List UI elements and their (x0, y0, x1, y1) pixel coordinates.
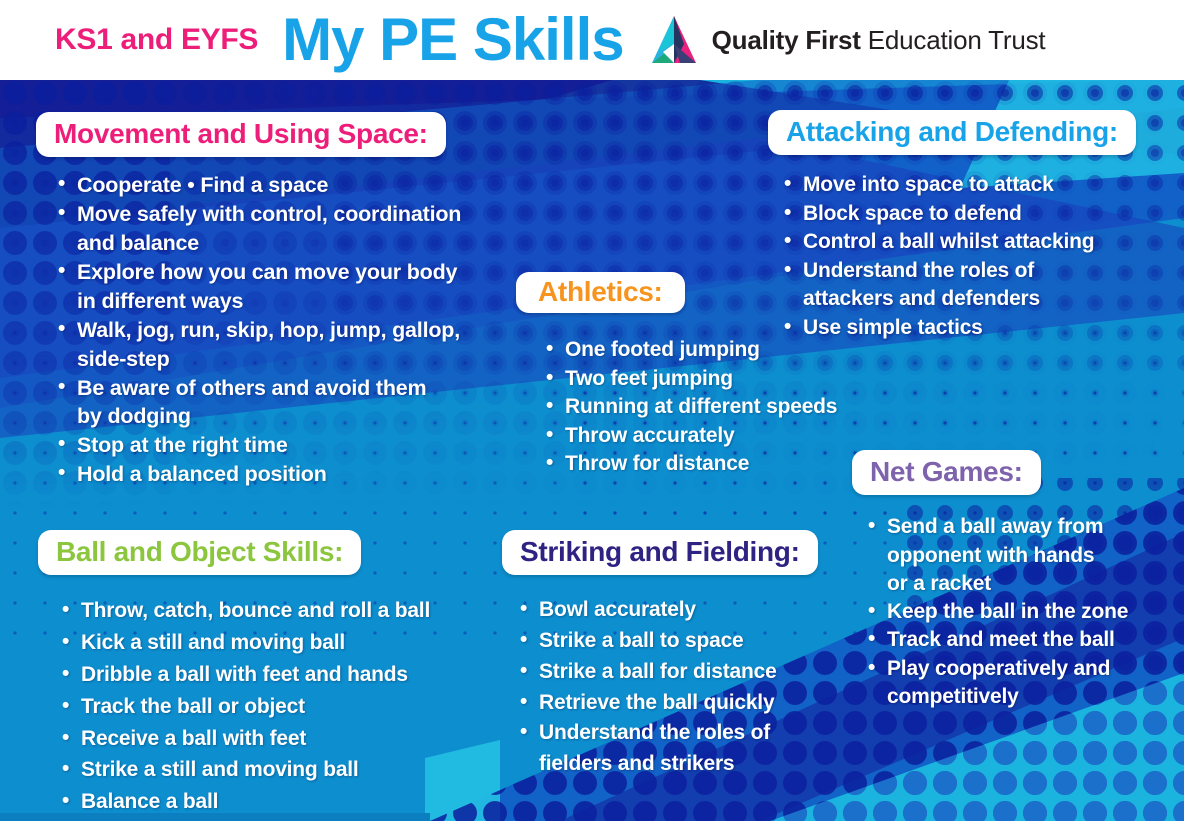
list-item-continuation: and balance (58, 230, 506, 257)
panel-heading: Athletics: (538, 276, 663, 307)
list-item: Two feet jumping (546, 366, 876, 392)
list-item: Control a ball whilst attacking (784, 229, 1168, 255)
list-item: Track and meet the ball (868, 627, 1172, 653)
list-item-continuation: competitively (868, 684, 1172, 710)
list-item: Dribble a ball with feet and hands (62, 660, 508, 690)
logo-wordmark: Quality First Education Trust (712, 25, 1046, 56)
logo-regular-text: Education Trust (861, 25, 1046, 55)
panel-ball-and-object-skills: Ball and Object Skills: Throw, catch, bo… (38, 530, 508, 819)
panel-heading: Net Games: (870, 456, 1023, 487)
panel-heading: Ball and Object Skills: (56, 536, 343, 567)
list-item: Receive a ball with feet (62, 724, 508, 754)
page-title: My PE Skills (282, 10, 624, 70)
list-item: Be aware of others and avoid them (58, 375, 506, 402)
panel-striking-and-fielding: Striking and Fielding: Bowl accurately S… (502, 530, 842, 781)
list-item: Move into space to attack (784, 172, 1168, 198)
list-item: Keep the ball in the zone (868, 599, 1172, 625)
key-stage-label: KS1 and EYFS (55, 23, 258, 57)
list-item: Stop at the right time (58, 432, 506, 459)
list-item: Balance a ball (62, 787, 508, 817)
list-item: Strike a ball to space (520, 627, 842, 656)
organisation-logo: Quality First Education Trust (646, 14, 1046, 66)
list-item: Send a ball away from (868, 514, 1172, 540)
list-item-continuation: or a racket (868, 571, 1172, 597)
list-item: Understand the roles of (520, 719, 842, 748)
skill-list-striking-and-fielding: Bowl accurately Strike a ball to space S… (520, 596, 842, 779)
list-item: Hold a balanced position (58, 461, 506, 488)
panel-heading: Striking and Fielding: (520, 536, 800, 567)
panel-movement-and-using-space: Movement and Using Space: Cooperate • Fi… (36, 112, 506, 490)
quality-first-triangle-logo-icon (646, 14, 702, 66)
list-item: Kick a still and moving ball (62, 628, 508, 658)
list-item-continuation: side-step (58, 346, 506, 373)
list-item: Strike a ball for distance (520, 658, 842, 687)
list-item: Track the ball or object (62, 692, 508, 722)
list-item: Walk, jog, run, skip, hop, jump, gallop, (58, 317, 506, 344)
heading-pill-movement: Movement and Using Space: (36, 112, 446, 157)
skill-list-athletics: One footed jumping Two feet jumping Runn… (546, 337, 876, 477)
heading-pill-net-games: Net Games: (852, 450, 1041, 495)
list-item: One footed jumping (546, 337, 876, 363)
list-item: Running at different speeds (546, 394, 876, 420)
list-item: Throw, catch, bounce and roll a ball (62, 596, 508, 626)
list-item: Explore how you can move your body (58, 259, 506, 286)
list-item-continuation: in different ways (58, 288, 506, 315)
panel-athletics: Athletics: One footed jumping Two feet j… (516, 272, 876, 480)
list-item: Cooperate • Find a space (58, 172, 506, 199)
heading-pill-athletics: Athletics: (516, 272, 685, 313)
heading-pill-ball-and-object: Ball and Object Skills: (38, 530, 361, 575)
panel-heading: Movement and Using Space: (54, 118, 428, 149)
skill-list-net-games: Send a ball away from opponent with hand… (868, 514, 1172, 710)
list-item: Block space to defend (784, 201, 1168, 227)
list-item: Play cooperatively and (868, 656, 1172, 682)
list-item-continuation: opponent with hands (868, 543, 1172, 569)
heading-pill-attacking: Attacking and Defending: (768, 110, 1136, 155)
list-item: Throw for distance (546, 451, 876, 477)
list-item: Strike a still and moving ball (62, 755, 508, 785)
logo-bold-text: Quality First (712, 25, 861, 55)
list-item: Throw accurately (546, 423, 876, 449)
list-item: Retrieve the ball quickly (520, 689, 842, 718)
pe-skills-poster: KS1 and EYFS My PE Skills Quality First … (0, 0, 1184, 821)
panel-heading: Attacking and Defending: (786, 116, 1118, 147)
skill-list-movement: Cooperate • Find a space Move safely wit… (58, 172, 506, 488)
list-item: Move safely with control, coordination (58, 201, 506, 228)
list-item-continuation: fielders and strikers (520, 750, 842, 779)
panel-net-games: Net Games: Send a ball away from opponen… (852, 450, 1172, 712)
list-item-continuation: by dodging (58, 403, 506, 430)
list-item: Bowl accurately (520, 596, 842, 625)
poster-header: KS1 and EYFS My PE Skills Quality First … (0, 0, 1184, 80)
skill-list-ball-and-object: Throw, catch, bounce and roll a ball Kic… (62, 596, 508, 817)
heading-pill-striking-and-fielding: Striking and Fielding: (502, 530, 818, 575)
